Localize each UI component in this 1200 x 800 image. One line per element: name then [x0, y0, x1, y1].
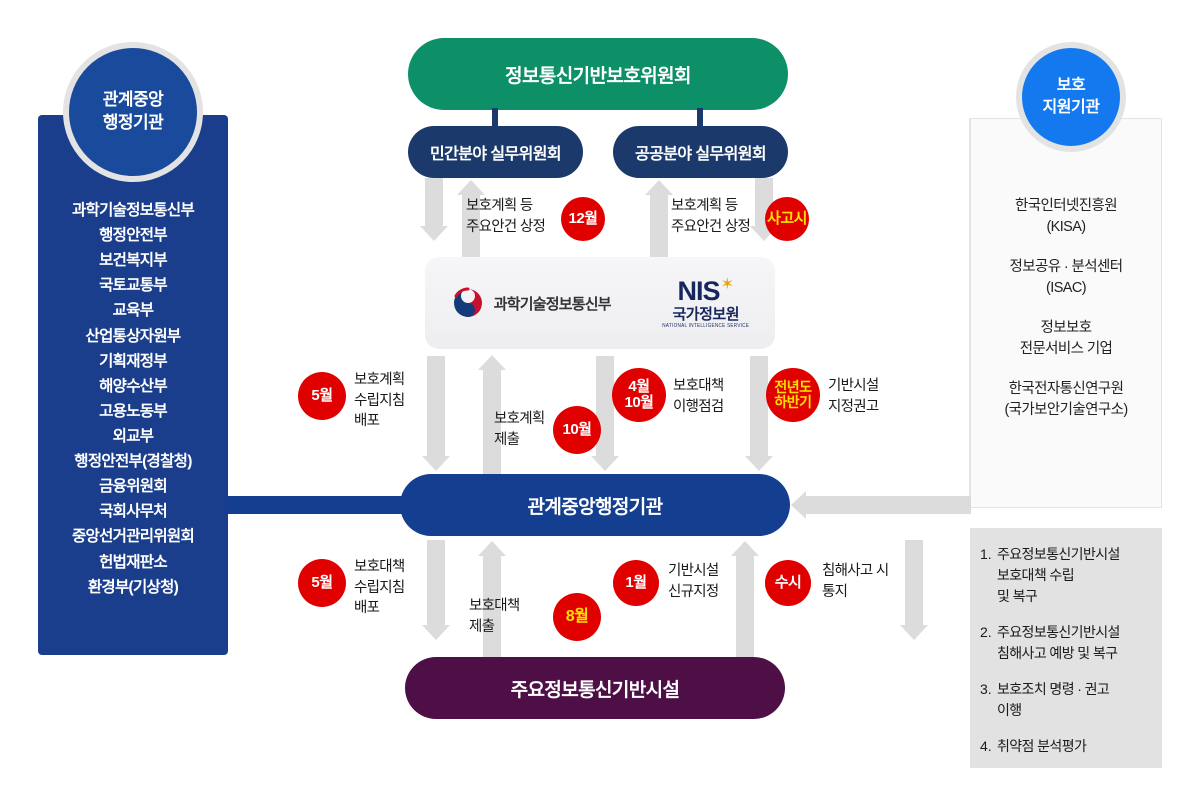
arrow-plan-guideline-shaft: [427, 356, 445, 456]
support-org-item: 정보공유 · 분석센터 (ISAC): [970, 257, 1162, 299]
diagram-canvas: 관계중앙 행정기관 과학기술정보통신부 행정안전부 보건복지부 국토교통부 교육…: [0, 0, 1200, 800]
arrow-facility-rec-head: [745, 456, 773, 471]
ministry-list: 과학기술정보통신부 행정안전부 보건복지부 국토교통부 교육부 산업통상자원부 …: [38, 198, 228, 600]
badge-facility-new-1month: 1월: [613, 560, 659, 606]
arrow-measure-submit-head: [478, 541, 506, 556]
nis-logo: NIS ✶ 국가정보원 NATIONAL INTELLIGENCE SERVIC…: [662, 278, 749, 329]
flow-to-private-committee-label: 보호계획 등 주요안건 상정: [466, 196, 545, 237]
badge-facility-rec-prev-half: 전년도 하반기: [766, 368, 820, 422]
private-subcommittee-label: 민간분야 실무위원회: [430, 140, 561, 164]
badge-text: 사고시: [767, 211, 807, 227]
flow-line: 배포: [354, 598, 405, 619]
link-committee-private: [492, 108, 498, 128]
badge-text: 수시: [775, 575, 802, 591]
arrow-facility-rec-shaft: [750, 356, 768, 456]
flow-line: 주요안건 상정: [671, 217, 750, 238]
flow-line: 보호대책: [469, 596, 520, 617]
flow-line: 보호계획 등: [671, 196, 750, 217]
duty-item: 3. 보호조치 명령 · 권고 이행: [980, 679, 1158, 721]
flow-line: 보호계획 등: [466, 196, 545, 217]
flow-line: 주요안건 상정: [466, 217, 545, 238]
duty-text: 보호조치 명령 · 권고 이행: [997, 679, 1109, 721]
arrow-plan-check-head: [591, 456, 619, 471]
arrow-measure-guideline-head: [422, 625, 450, 640]
badge-incident: 사고시: [765, 197, 809, 241]
ministry-item: 행정안전부: [38, 223, 228, 248]
duty-item: 1. 주요정보통신기반시설 보호대책 수립 및 복구: [980, 544, 1158, 607]
support-org-line: 전문서비스 기업: [970, 339, 1162, 360]
support-org-line: 한국전자통신연구원: [970, 379, 1162, 400]
badge-text: 10월: [625, 395, 654, 411]
support-org-line: (KISA): [970, 217, 1162, 238]
flow-facility-rec-label: 기반시설 지정권고: [828, 376, 879, 417]
ministry-item: 외교부: [38, 424, 228, 449]
flow-facility-new-label: 기반시설 신규지정: [668, 561, 719, 602]
arrow-plan-submit-head: [478, 355, 506, 370]
protection-committee-bar: 정보통신기반보호위원회: [408, 38, 788, 110]
badge-text: 1월: [625, 575, 646, 591]
support-org-line: (국가보안기술연구소): [970, 400, 1162, 421]
support-org-line: (ISAC): [970, 278, 1162, 299]
protection-committee-label: 정보통신기반보호위원회: [505, 61, 691, 88]
flow-plan-submit-label: 보호계획 제출: [494, 409, 545, 450]
badge-text: 하반기: [774, 395, 811, 410]
critical-infrastructure-label: 주요정보통신기반시설: [511, 675, 680, 702]
taegeuk-icon: [451, 286, 485, 320]
support-org-item: 정보보호 전문서비스 기업: [970, 318, 1162, 360]
flow-line: 통지: [822, 582, 889, 603]
flow-line: 침해사고 시: [822, 561, 889, 582]
support-org-line: 정보공유 · 분석센터: [970, 257, 1162, 278]
duty-number: 4.: [980, 736, 997, 757]
arrow-plan-guideline-head: [422, 456, 450, 471]
duty-item: 4. 취약점 분석평가: [980, 736, 1158, 757]
central-agency-label: 관계중앙행정기관: [527, 492, 662, 519]
arrow-plan-check-shaft: [596, 356, 614, 456]
central-agency-bar: 관계중앙행정기관: [400, 474, 790, 536]
duty-item: 2. 주요정보통신기반시설 침해사고 예방 및 복구: [980, 622, 1158, 664]
support-orgs-circle-line2: 지원기관: [1043, 97, 1100, 119]
support-orgs-circle: 보호 지원기관: [1016, 42, 1126, 152]
badge-plan-check-4-10month: 4월 10월: [612, 368, 666, 422]
badge-plan-guideline-5month: 5월: [298, 372, 346, 420]
msit-logo-label: 과학기술정보통신부: [494, 293, 611, 314]
badge-text: 전년도: [774, 380, 811, 395]
support-org-item: 한국전자통신연구원 (국가보안기술연구소): [970, 379, 1162, 421]
flow-line: 보호대책: [673, 376, 724, 397]
flow-line: 수립지침: [354, 578, 405, 599]
flow-incident-notify-label: 침해사고 시 통지: [822, 561, 889, 602]
support-orgs-list: 한국인터넷진흥원 (KISA) 정보공유 · 분석센터 (ISAC) 정보보호 …: [970, 196, 1162, 440]
duty-number: 2.: [980, 622, 997, 664]
ministry-item: 해양수산부: [38, 374, 228, 399]
flow-measure-submit-label: 보호대책 제출: [469, 596, 520, 637]
support-org-item: 한국인터넷진흥원 (KISA): [970, 196, 1162, 238]
arrow-public-up-head: [645, 180, 673, 195]
arrow-facility-new-head: [731, 541, 759, 556]
flow-line: 제출: [494, 430, 545, 451]
duty-text: 주요정보통신기반시설 보호대책 수립 및 복구: [997, 544, 1120, 607]
badge-text: 5월: [311, 575, 332, 591]
ministry-item: 고용노동부: [38, 399, 228, 424]
flow-plan-check-label: 보호대책 이행점검: [673, 376, 724, 417]
ministry-item: 산업통상자원부: [38, 324, 228, 349]
flow-line: 보호대책: [354, 557, 405, 578]
flow-line: 지정권고: [828, 397, 879, 418]
badge-plan-submit-10month: 10월: [553, 406, 601, 454]
flow-line: 기반시설: [668, 561, 719, 582]
central-agencies-circle-line1: 관계중앙: [103, 89, 164, 112]
arrow-incident-notify-shaft: [905, 540, 923, 625]
flow-plan-guideline-label: 보호계획 수립지침 배포: [354, 370, 405, 432]
badge-text: 12월: [569, 211, 598, 227]
msit-logo: 과학기술정보통신부: [451, 286, 611, 320]
central-agencies-circle-line2: 행정기관: [103, 112, 164, 135]
critical-infrastructure-bar: 주요정보통신기반시설: [405, 657, 785, 719]
duty-text: 취약점 분석평가: [997, 736, 1086, 757]
badge-text: 8월: [566, 608, 589, 625]
badge-measure-guideline-5month: 5월: [298, 559, 346, 607]
duty-number: 1.: [980, 544, 997, 607]
ministry-item: 중앙선거관리위원회: [38, 524, 228, 549]
support-orgs-circle-line1: 보호: [1057, 75, 1085, 97]
nis-english-label: NATIONAL INTELLIGENCE SERVICE: [662, 323, 749, 328]
public-subcommittee-bar: 공공분야 실무위원회: [613, 126, 788, 178]
ministry-item: 보건복지부: [38, 248, 228, 273]
arrow-private-up-head: [457, 180, 485, 195]
ministry-item: 기획재정부: [38, 349, 228, 374]
support-org-line: 정보보호: [970, 318, 1162, 339]
arrow-private-down-shaft: [425, 178, 443, 226]
ministry-item: 행정안전부(경찰청): [38, 449, 228, 474]
badge-text: 4월: [628, 379, 649, 395]
flow-measure-guideline-label: 보호대책 수립지침 배포: [354, 557, 405, 619]
badge-text: 5월: [311, 388, 332, 404]
badge-measure-submit-8month: 8월: [553, 593, 601, 641]
connector-left-to-agency: [226, 496, 406, 514]
ministry-item: 국회사무처: [38, 499, 228, 524]
ministry-item: 금융위원회: [38, 474, 228, 499]
nis-logo-top: NIS ✶: [678, 278, 734, 305]
flow-line: 배포: [354, 411, 405, 432]
ministry-item: 과학기술정보통신부: [38, 198, 228, 223]
nis-korean-label: 국가정보원: [673, 307, 740, 322]
msit-nis-logo-box: 과학기술정보통신부 NIS ✶ 국가정보원 NATIONAL INTELLIGE…: [425, 257, 775, 349]
star-icon: ✶: [721, 277, 734, 293]
badge-incident-notify-anytime: 수시: [765, 560, 811, 606]
arrow-public-up-shaft: [650, 195, 668, 257]
arrow-measure-guideline-shaft: [427, 540, 445, 625]
badge-text: 10월: [563, 422, 592, 438]
duty-text: 주요정보통신기반시설 침해사고 예방 및 복구: [997, 622, 1120, 664]
arrow-private-down-head: [420, 226, 448, 241]
ministry-item: 헌법재판소: [38, 550, 228, 575]
nis-abbr-label: NIS: [678, 278, 720, 305]
support-org-line: 한국인터넷진흥원: [970, 196, 1162, 217]
duty-number: 3.: [980, 679, 997, 721]
support-duties-list: 1. 주요정보통신기반시설 보호대책 수립 및 복구 2. 주요정보통신기반시설…: [980, 544, 1158, 772]
arrow-incident-notify-head: [900, 625, 928, 640]
public-subcommittee-label: 공공분야 실무위원회: [635, 140, 766, 164]
flow-line: 이행점검: [673, 397, 724, 418]
ministry-item: 환경부(기상청): [38, 575, 228, 600]
central-agencies-circle: 관계중앙 행정기관: [63, 42, 203, 182]
flow-line: 보호계획: [354, 370, 405, 391]
arrow-support-to-agency-head: [791, 491, 806, 519]
ministry-item: 교육부: [38, 298, 228, 323]
flow-line: 제출: [469, 617, 520, 638]
badge-12month: 12월: [561, 197, 605, 241]
flow-line: 수립지침: [354, 391, 405, 412]
link-committee-public: [697, 108, 703, 128]
ministry-item: 국토교통부: [38, 273, 228, 298]
flow-line: 기반시설: [828, 376, 879, 397]
flow-line: 보호계획: [494, 409, 545, 430]
private-subcommittee-bar: 민간분야 실무위원회: [408, 126, 583, 178]
flow-line: 신규지정: [668, 582, 719, 603]
arrow-facility-new-shaft: [736, 556, 754, 657]
arrow-support-to-agency-shaft: [805, 496, 971, 514]
flow-to-public-committee-label: 보호계획 등 주요안건 상정: [671, 196, 750, 237]
